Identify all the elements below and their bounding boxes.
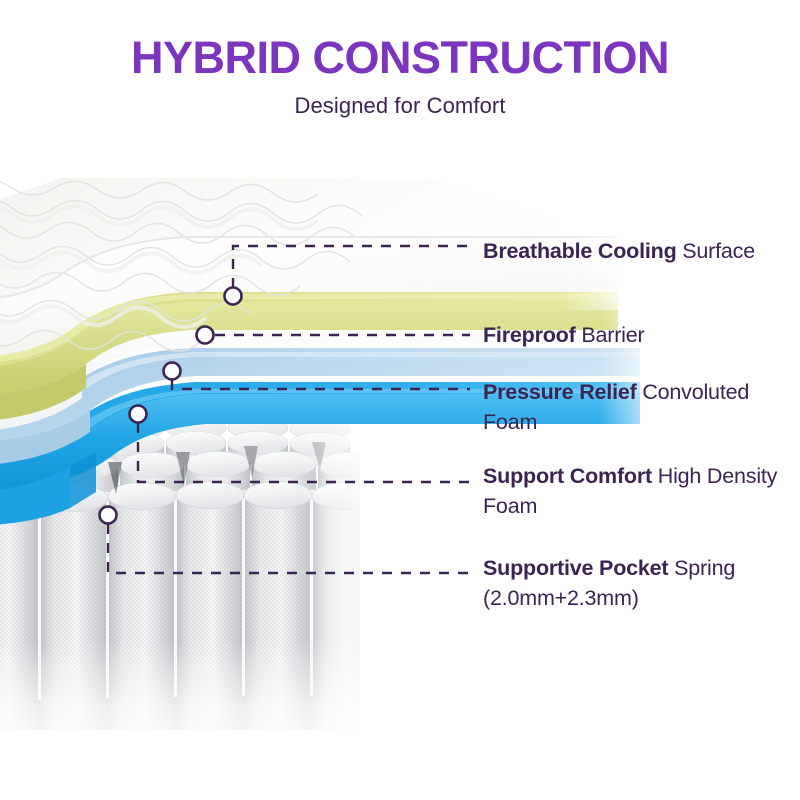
hybrid-construction-infographic: HYBRID CONSTRUCTION Designed for Comfort <box>0 0 800 800</box>
callout-strong-text: Support Comfort <box>483 464 652 488</box>
callout-support-comfort-high-density-foam: Support Comfort High Density Foam <box>483 461 795 521</box>
callout-labels: Breathable Cooling Surface Fireproof Bar… <box>0 0 800 800</box>
callout-fireproof-barrier: Fireproof Barrier <box>483 320 795 350</box>
callout-supportive-pocket-spring: Supportive Pocket Spring (2.0mm+2.3mm) <box>483 553 795 613</box>
callout-strong-text: Pressure Relief <box>483 380 637 404</box>
callout-breathable-cooling-surface: Breathable Cooling Surface <box>483 236 795 266</box>
callout-light-text: Surface <box>677 239 755 263</box>
callout-pressure-relief-convoluted-foam: Pressure Relief Convoluted Foam <box>483 377 795 437</box>
callout-strong-text: Supportive Pocket <box>483 556 668 580</box>
callout-light-text: Barrier <box>576 323 645 347</box>
callout-strong-text: Breathable Cooling <box>483 239 677 263</box>
callout-strong-text: Fireproof <box>483 323 576 347</box>
